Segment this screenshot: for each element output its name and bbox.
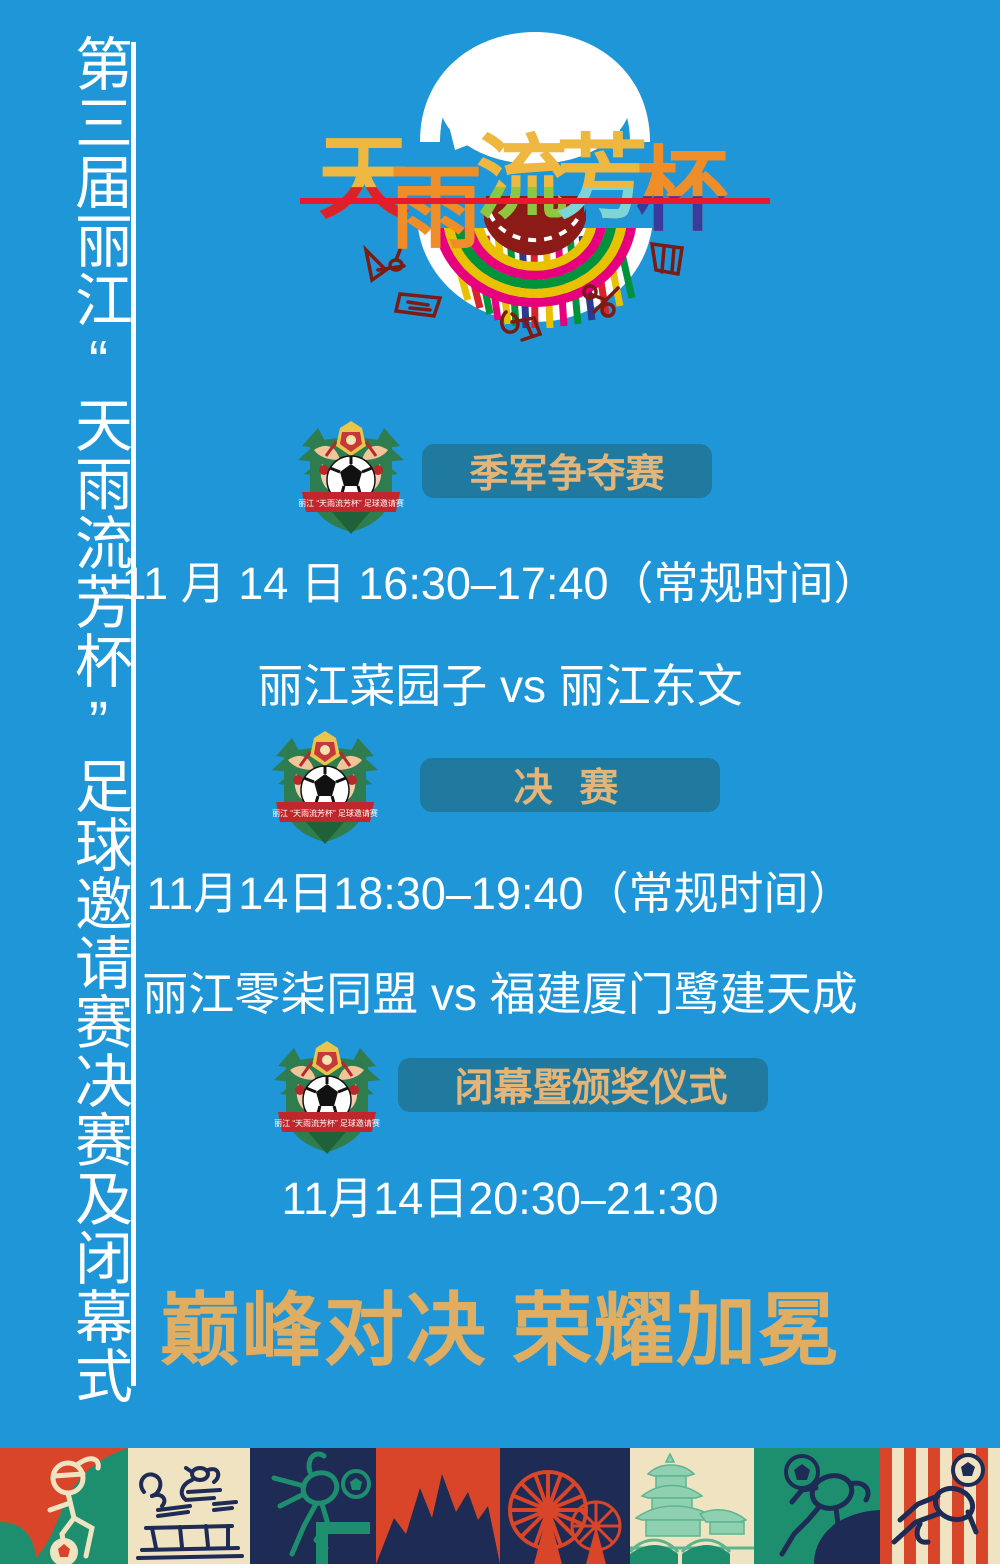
panel-player-striped [880,1448,1000,1564]
panel-naxi-bridge-scene [128,1448,250,1564]
slogan: 巅峰对决 荣耀加冕 [0,1266,1000,1382]
event-label-text: 闭幕暨颁奖仪式 [398,1057,768,1113]
event-time-closing: 11月14日20:30–21:30 [0,1162,1000,1227]
emblem-ribbon-text: 丽江 “天雨流芳杯” 足球邀请赛 [272,808,378,818]
panel-player-dribbling [0,1448,128,1564]
event-teams-final: 丽江零柒同盟 vs 福建厦门鹭建天成 [0,958,1000,1024]
event-label-text: 决 赛 [420,757,720,813]
event-label-third-place: 季军争夺赛 [422,444,712,498]
tournament-logo: 天 天 雨 流 流 芳 芳 杯 杯 [300,22,770,382]
tournament-emblem: 丽江 “天雨流芳杯” 足球邀请赛 [270,726,380,844]
panel-ferris-wheel [500,1448,630,1564]
svg-text:雨: 雨 [390,158,482,260]
panel-player-running [754,1448,880,1564]
poster-canvas: 第三届丽江“天雨流芳杯”足球邀请赛决赛及闭幕式 [0,0,1000,1564]
event-teams-third-place: 丽江菜园子 vs 丽江东文 [0,650,1000,716]
event-time-third-place: 11 月 14 日 16:30–17:40（常规时间） [0,547,1000,612]
event-label-text: 季军争夺赛 [422,443,712,499]
emblem-ribbon-text: 丽江 “天雨流芳杯” 足球邀请赛 [298,498,404,508]
panel-jade-dragon-mountain [376,1448,500,1564]
panel-mufu-pagoda [630,1448,754,1564]
panel-player-heading [250,1448,376,1564]
event-label-final: 决 赛 [420,758,720,812]
footer-illustration-strip [0,1448,1000,1564]
event-label-closing: 闭幕暨颁奖仪式 [398,1058,768,1112]
tournament-emblem: 丽江 “天雨流芳杯” 足球邀请赛 [296,416,406,534]
tournament-emblem: 丽江 “天雨流芳杯” 足球邀请赛 [272,1036,382,1154]
emblem-ribbon-text: 丽江 “天雨流芳杯” 足球邀请赛 [274,1118,380,1128]
event-time-final: 11月14日18:30–19:40（常规时间） [0,857,1000,922]
